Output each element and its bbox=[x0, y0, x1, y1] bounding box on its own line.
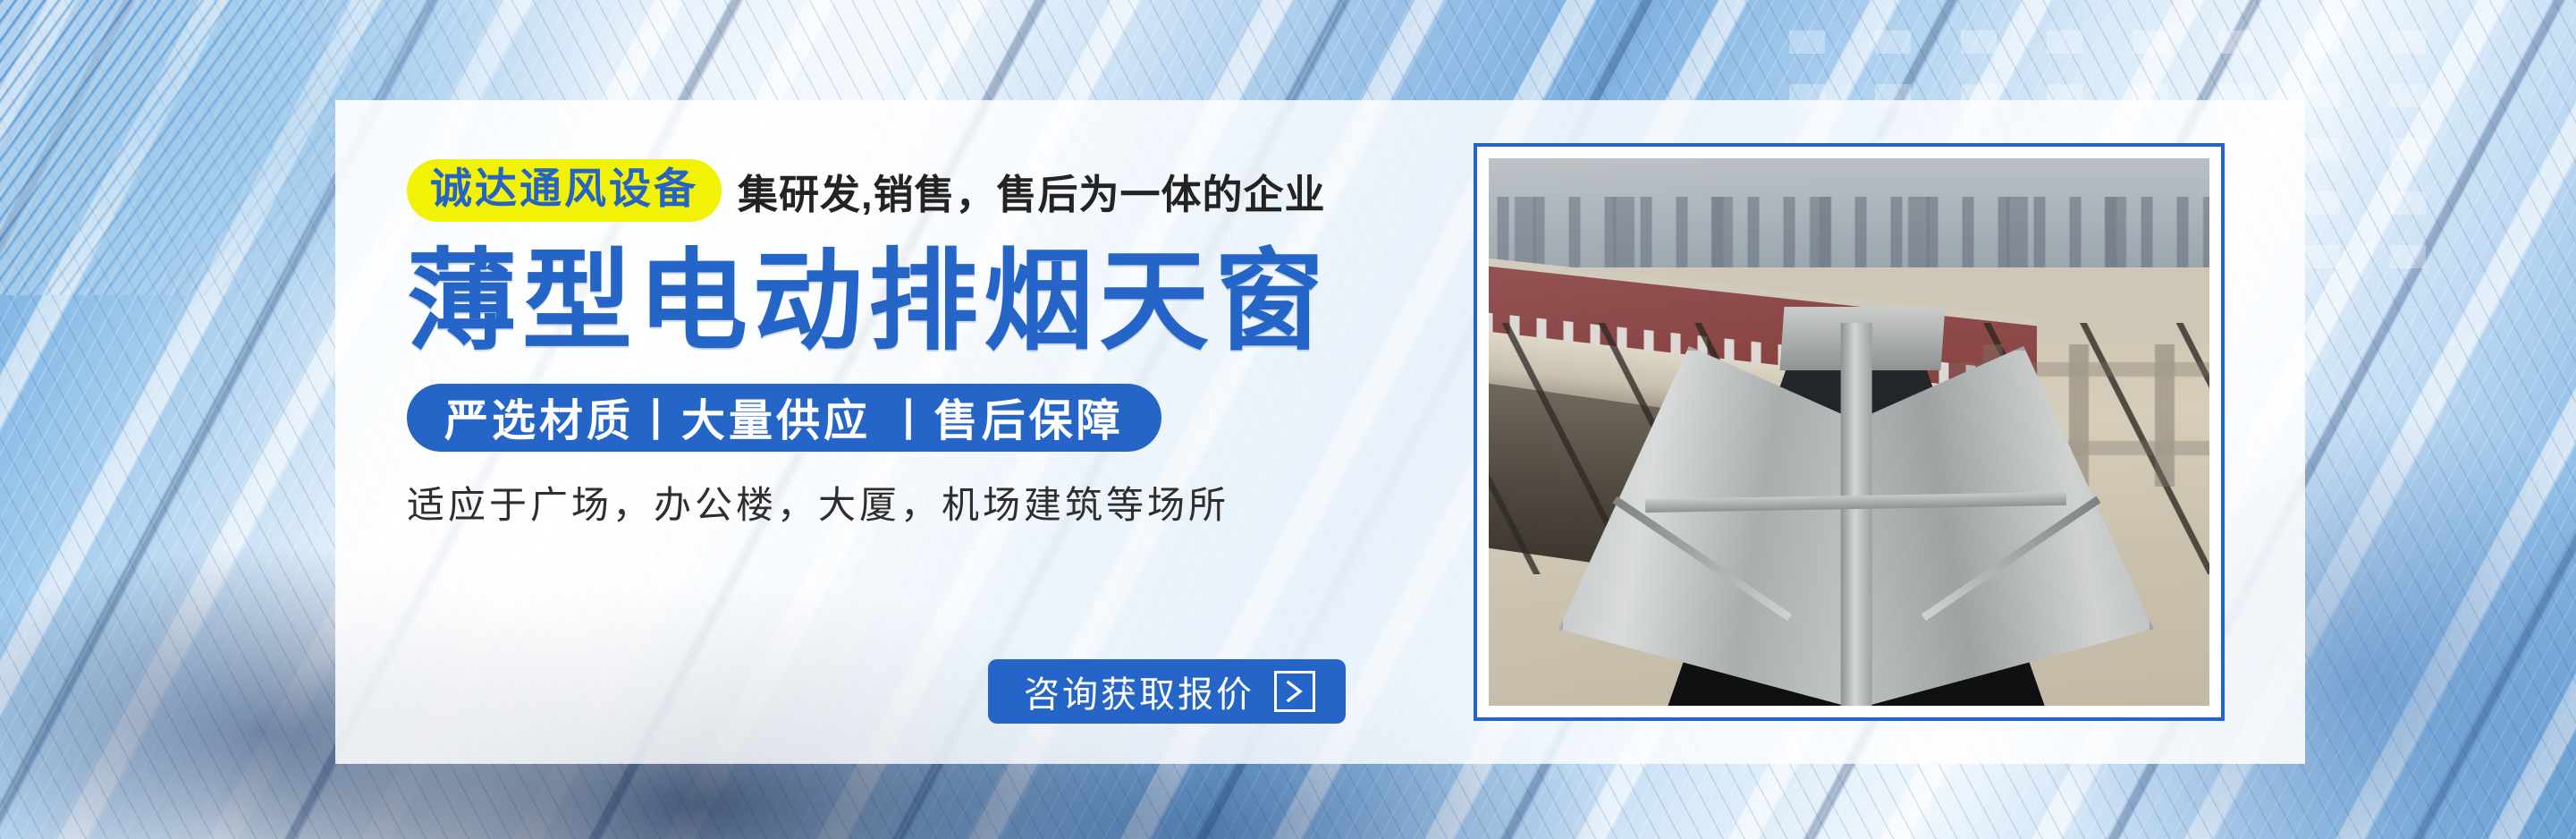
photo-skylight-unit bbox=[1546, 323, 2166, 706]
product-image-card bbox=[1474, 143, 2225, 721]
photo-city-skyline bbox=[1489, 197, 2209, 268]
tagline-row: 诚达通风设备 集研发,销售，售后为一体的企业 bbox=[407, 157, 1417, 225]
feature-highlights-badge: 严选材质丨大量供应 丨售后保障 bbox=[407, 384, 1161, 452]
chevron-right-icon bbox=[1274, 671, 1315, 712]
tagline-text: 集研发,销售，售后为一体的企业 bbox=[738, 162, 1326, 220]
page-title: 薄型电动排烟天窗 bbox=[407, 241, 1417, 364]
quote-cta-label: 咨询获取报价 bbox=[1024, 665, 1254, 717]
product-photo bbox=[1489, 158, 2209, 706]
quote-cta-button[interactable]: 咨询获取报价 bbox=[988, 659, 1346, 724]
application-description: 适应于广场，办公楼，大厦，机场建筑等场所 bbox=[407, 475, 1417, 530]
brand-name-badge: 诚达通风设备 bbox=[407, 159, 722, 223]
skylight-ridge-beam bbox=[1841, 323, 1872, 706]
copy-column: 诚达通风设备 集研发,销售，售后为一体的企业 薄型电动排烟天窗 严选材质丨大量供… bbox=[407, 157, 1417, 729]
promo-banner: 诚达通风设备 集研发,销售，售后为一体的企业 薄型电动排烟天窗 严选材质丨大量供… bbox=[0, 0, 2576, 839]
